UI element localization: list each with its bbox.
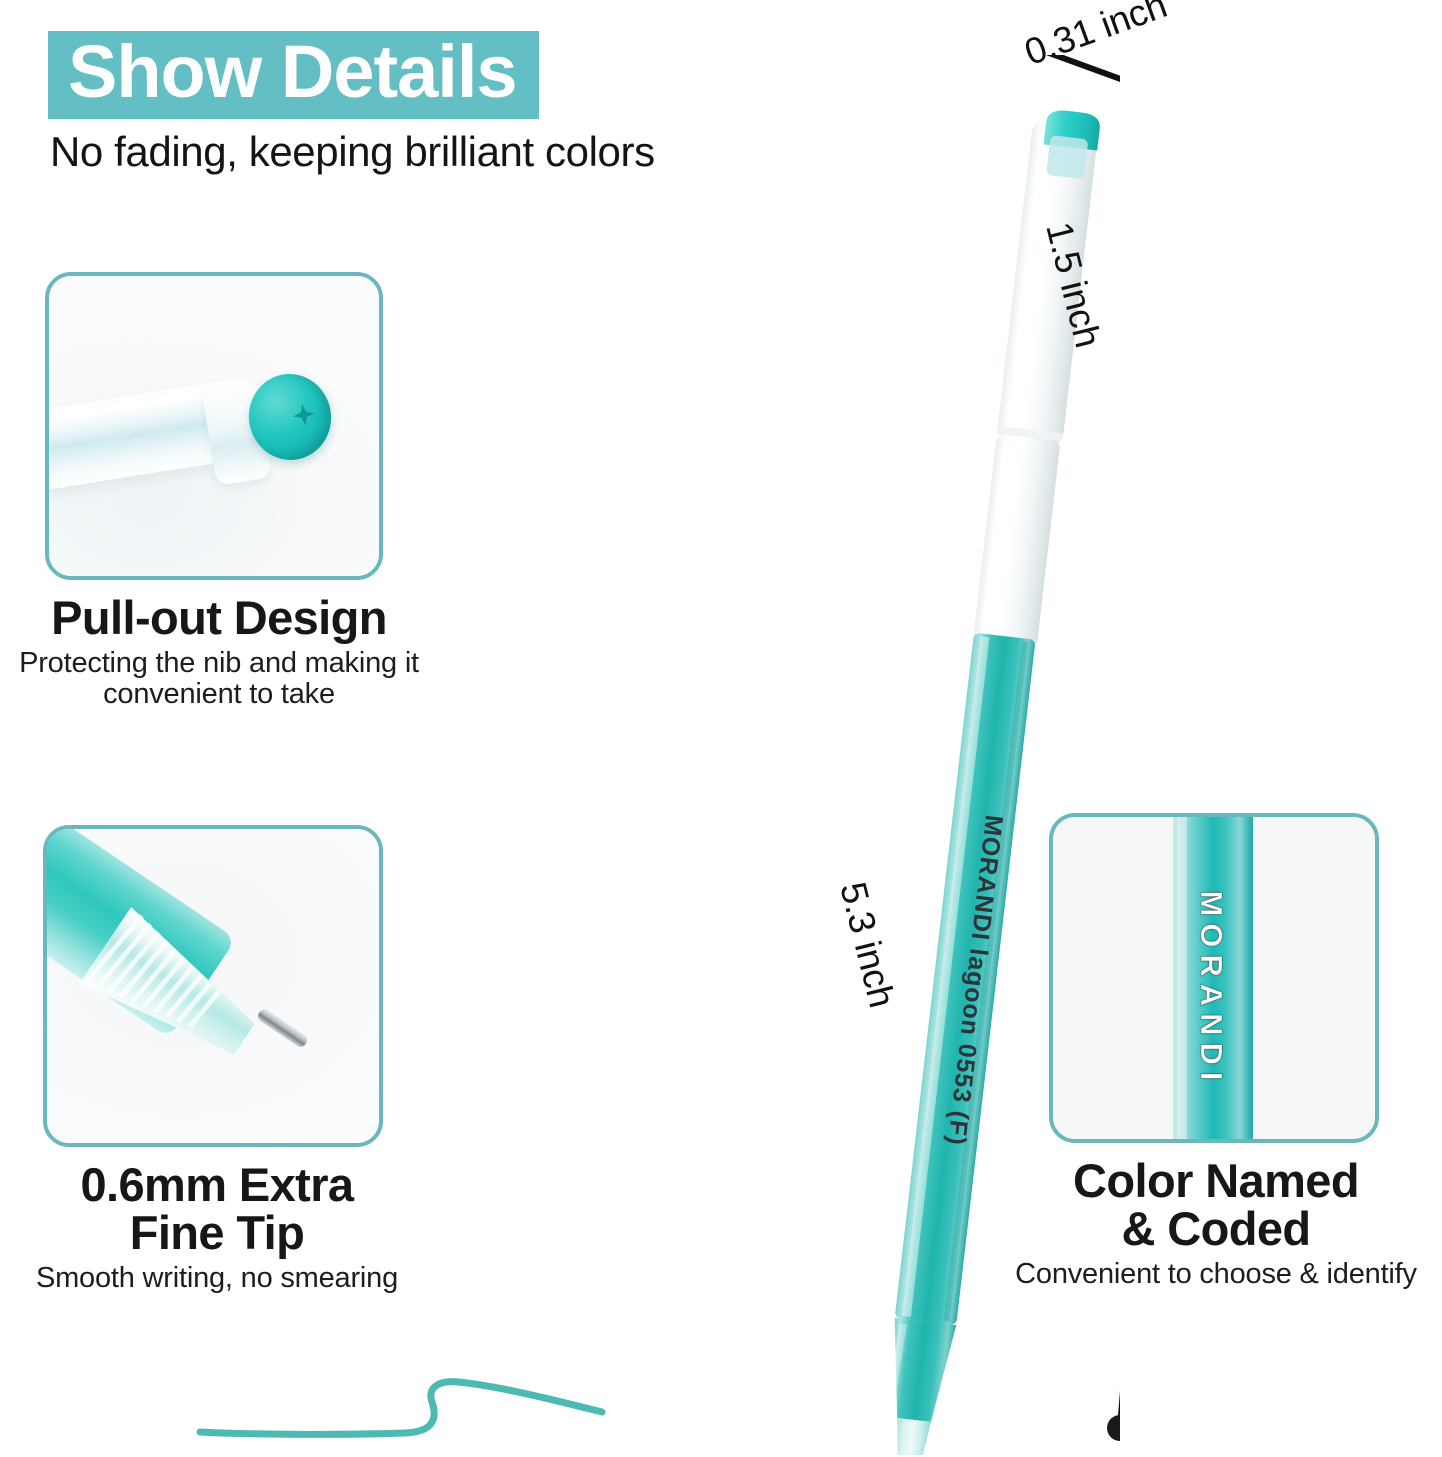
product-infographic: Show Details No fading, keeping brillian… — [0, 0, 1442, 1457]
feature-title: 0.6mm Extra Fine Tip — [0, 1161, 442, 1257]
feature-description: Smooth writing, no smearing — [0, 1263, 442, 1294]
feature-description: Convenient to choose & identify — [981, 1259, 1442, 1290]
feature-caption: 0.6mm Extra Fine Tip Smooth writing, no … — [0, 1161, 442, 1294]
page-title: Show Details — [68, 35, 517, 109]
pen-upper-sleeve — [973, 434, 1060, 648]
pen-barrel-brand-text: MORANDI — [1171, 817, 1251, 1143]
pen-cap-plug — [1044, 109, 1102, 151]
feature-pull-out-design: Pull-out Design Protecting the nib and m… — [42, 272, 402, 711]
pen-tip-holder — [892, 1418, 931, 1455]
dimension-label-cap-length: 1.5 inch — [1037, 218, 1109, 352]
dimension-label-pen-length: 5.3 inch — [831, 878, 903, 1012]
feature-caption: Pull-out Design Protecting the nib and m… — [0, 594, 454, 711]
pen-barrel-print: MORANDI lagoon 0553 (F) — [942, 814, 1008, 1148]
feature-description: Protecting the nib and making it conveni… — [0, 648, 454, 711]
feature-title: Pull-out Design — [0, 594, 454, 642]
feature-image-color-named-coded: MORANDI — [1049, 813, 1379, 1143]
header-banner: Show Details — [48, 31, 539, 119]
pen-grip-cone — [883, 1318, 956, 1423]
feature-caption: Color Named & Coded Convenient to choose… — [981, 1157, 1442, 1290]
pen-print-text: MORANDI lagoon 0553 (F) — [942, 814, 1008, 1148]
ink-stroke — [170, 1340, 640, 1457]
feature-title: Color Named & Coded — [981, 1157, 1442, 1253]
dimension-label-cap-diameter: 0.31 inch — [1019, 0, 1172, 74]
feature-image-extra-fine-tip — [43, 825, 383, 1147]
feature-image-pull-out-design — [45, 272, 383, 580]
header-subtitle: No fading, keeping brilliant colors — [50, 128, 655, 176]
feature-extra-fine-tip: 0.6mm Extra Fine Tip Smooth writing, no … — [40, 825, 400, 1294]
feature-color-named-coded: MORANDI Color Named & Coded Convenient t… — [1043, 813, 1393, 1290]
dimension-dot-pen-bottom — [1107, 1415, 1120, 1441]
